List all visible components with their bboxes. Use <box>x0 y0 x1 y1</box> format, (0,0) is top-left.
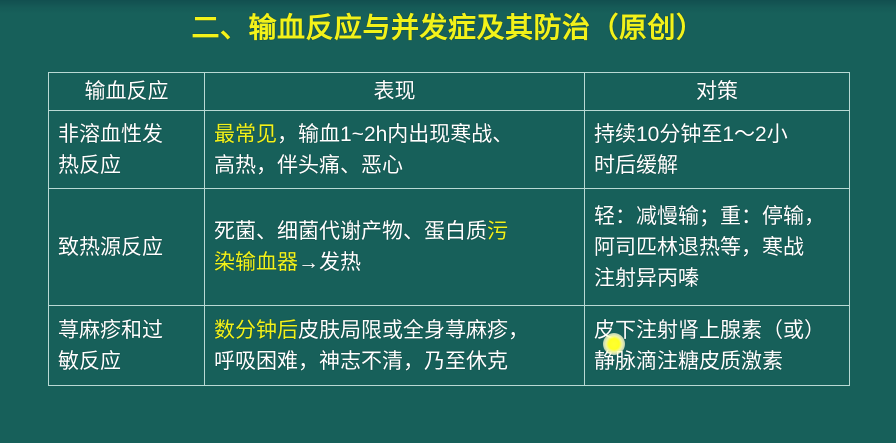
slide-canvas: 二、输血反应与并发症及其防治（原创） 输血反应 表现 对策 非溶血性发 热反应 <box>0 0 896 443</box>
cell-reaction-3: 荨麻疹和过 敏反应 <box>49 306 205 386</box>
page-title: 二、输血反应与并发症及其防治（原创） <box>0 11 896 45</box>
cell-line: 数分钟后皮肤局限或全身荨麻疹， <box>214 315 578 346</box>
highlight-text: 污 <box>487 220 508 243</box>
cell-line: 荨麻疹和过 <box>58 315 198 346</box>
table-row: 致热源反应 死菌、细菌代谢产物、蛋白质污 染输血器→发热 轻：减慢输；重：停输，… <box>49 189 850 306</box>
cell-manifestation-2: 死菌、细菌代谢产物、蛋白质污 染输血器→发热 <box>205 189 585 306</box>
cell-line: 高热，伴头痛、恶心 <box>214 150 578 181</box>
cell-line: 持续10分钟至1～2小 <box>594 119 843 150</box>
cell-line: 敏反应 <box>58 346 198 377</box>
cell-countermeasure-3: 皮下注射肾上腺素（或） 静脉滴注糖皮质激素 <box>585 306 850 386</box>
plain-text: 皮肤局限或全身荨麻疹， <box>298 319 529 342</box>
highlight-text: 染输血器 <box>214 251 298 274</box>
transfusion-reaction-table-wrapper: 输血反应 表现 对策 非溶血性发 热反应 最常见，输血1~2h内出现寒战、 高热… <box>48 72 849 385</box>
cell-line: 时后缓解 <box>594 150 843 181</box>
cell-line: 致热源反应 <box>58 232 198 263</box>
transfusion-reaction-table: 输血反应 表现 对策 非溶血性发 热反应 最常见，输血1~2h内出现寒战、 高热… <box>48 72 850 386</box>
cell-line: 静脉滴注糖皮质激素 <box>594 346 843 377</box>
cell-reaction-2: 致热源反应 <box>49 189 205 306</box>
table-header-countermeasure: 对策 <box>585 73 850 111</box>
cell-countermeasure-2: 轻：减慢输；重：停输， 阿司匹林退热等，寒战 注射异丙嗪 <box>585 189 850 306</box>
cell-line: 阿司匹林退热等，寒战 <box>594 232 843 263</box>
cell-line: 热反应 <box>58 150 198 181</box>
cell-countermeasure-1: 持续10分钟至1～2小 时后缓解 <box>585 111 850 189</box>
cell-line: 死菌、细菌代谢产物、蛋白质污 <box>214 216 578 247</box>
table-header-manifestation: 表现 <box>205 73 585 111</box>
cell-line: 注射异丙嗪 <box>594 263 843 294</box>
highlight-text: 最常见 <box>214 123 277 146</box>
table-header-reaction: 输血反应 <box>49 73 205 111</box>
cell-line: 呼吸困难，神志不清，乃至休克 <box>214 346 578 377</box>
cell-line: 最常见，输血1~2h内出现寒战、 <box>214 119 578 150</box>
plain-text: 死菌、细菌代谢产物、蛋白质 <box>214 220 487 243</box>
table-row: 荨麻疹和过 敏反应 数分钟后皮肤局限或全身荨麻疹， 呼吸困难，神志不清，乃至休克… <box>49 306 850 386</box>
cell-manifestation-3: 数分钟后皮肤局限或全身荨麻疹， 呼吸困难，神志不清，乃至休克 <box>205 306 585 386</box>
cell-reaction-1: 非溶血性发 热反应 <box>49 111 205 189</box>
cell-line: 非溶血性发 <box>58 119 198 150</box>
cell-line: 染输血器→发热 <box>214 247 578 278</box>
plain-text: →发热 <box>298 251 361 274</box>
highlight-text: 数分钟后 <box>214 319 298 342</box>
cell-manifestation-1: 最常见，输血1~2h内出现寒战、 高热，伴头痛、恶心 <box>205 111 585 189</box>
plain-text: ，输血1~2h内出现寒战、 <box>277 123 513 146</box>
cell-line: 皮下注射肾上腺素（或） <box>594 315 843 346</box>
cell-line: 轻：减慢输；重：停输， <box>594 201 843 232</box>
table-row: 非溶血性发 热反应 最常见，输血1~2h内出现寒战、 高热，伴头痛、恶心 持续1… <box>49 111 850 189</box>
table-header-row: 输血反应 表现 对策 <box>49 73 850 111</box>
